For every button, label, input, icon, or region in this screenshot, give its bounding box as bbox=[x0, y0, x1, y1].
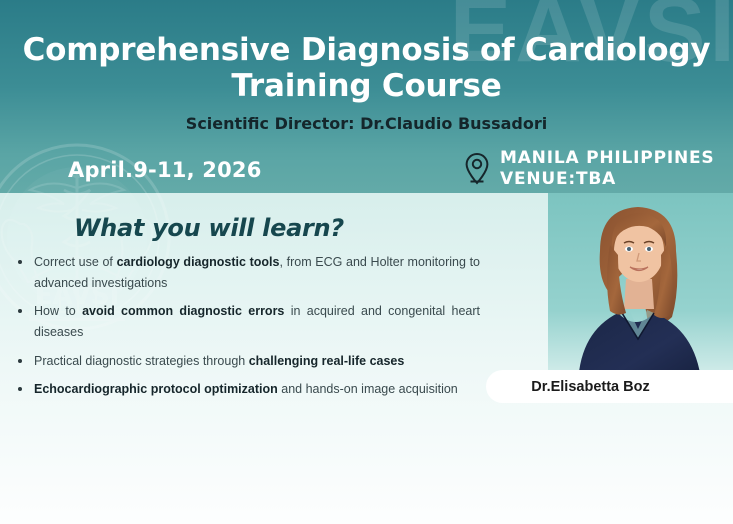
list-item: Echocardiographic protocol optimization … bbox=[12, 379, 480, 400]
list-item: Practical diagnostic strategies through … bbox=[12, 351, 480, 372]
learning-outcomes-list: Correct use of cardiology diagnostic too… bbox=[12, 252, 480, 408]
venue-text: MANILA PHILIPPINES VENUE:TBA bbox=[500, 148, 714, 189]
emphasis-text: cardiology diagnostic tools bbox=[117, 255, 280, 269]
venue-city: MANILA PHILIPPINES bbox=[500, 148, 714, 169]
conference-poster: EAVSI Comprehensive Diagnosis of Cardiol… bbox=[0, 0, 733, 524]
speaker-photo bbox=[548, 193, 733, 389]
emphasis-text: challenging real-life cases bbox=[249, 354, 405, 368]
event-date: April.9-11, 2026 bbox=[68, 158, 262, 182]
learn-section-heading: What you will learn? bbox=[74, 214, 344, 242]
speaker-name: Dr.Elisabetta Boz bbox=[531, 379, 687, 395]
list-item: Correct use of cardiology diagnostic too… bbox=[12, 252, 480, 293]
venue-block: MANILA PHILIPPINES VENUE:TBA bbox=[464, 148, 714, 189]
emphasis-text: avoid common diagnostic errors bbox=[82, 304, 284, 318]
speaker-name-badge: Dr.Elisabetta Boz bbox=[486, 370, 733, 403]
plain-text: and hands-on image acquisition bbox=[278, 382, 458, 396]
plain-text: Practical diagnostic strategies through bbox=[34, 354, 249, 368]
venue-place: VENUE:TBA bbox=[500, 169, 714, 190]
list-item: How to avoid common diagnostic errors in… bbox=[12, 301, 480, 342]
plain-text: How to bbox=[34, 304, 82, 318]
emphasis-text: Echocardiographic protocol optimization bbox=[34, 382, 278, 396]
plain-text: Correct use of bbox=[34, 255, 117, 269]
speaker-portrait-illustration bbox=[548, 193, 733, 389]
page-title: Comprehensive Diagnosis of Cardiology Tr… bbox=[0, 32, 733, 105]
scientific-director-line: Scientific Director: Dr.Claudio Bussador… bbox=[0, 114, 733, 133]
map-pin-icon bbox=[464, 152, 490, 186]
